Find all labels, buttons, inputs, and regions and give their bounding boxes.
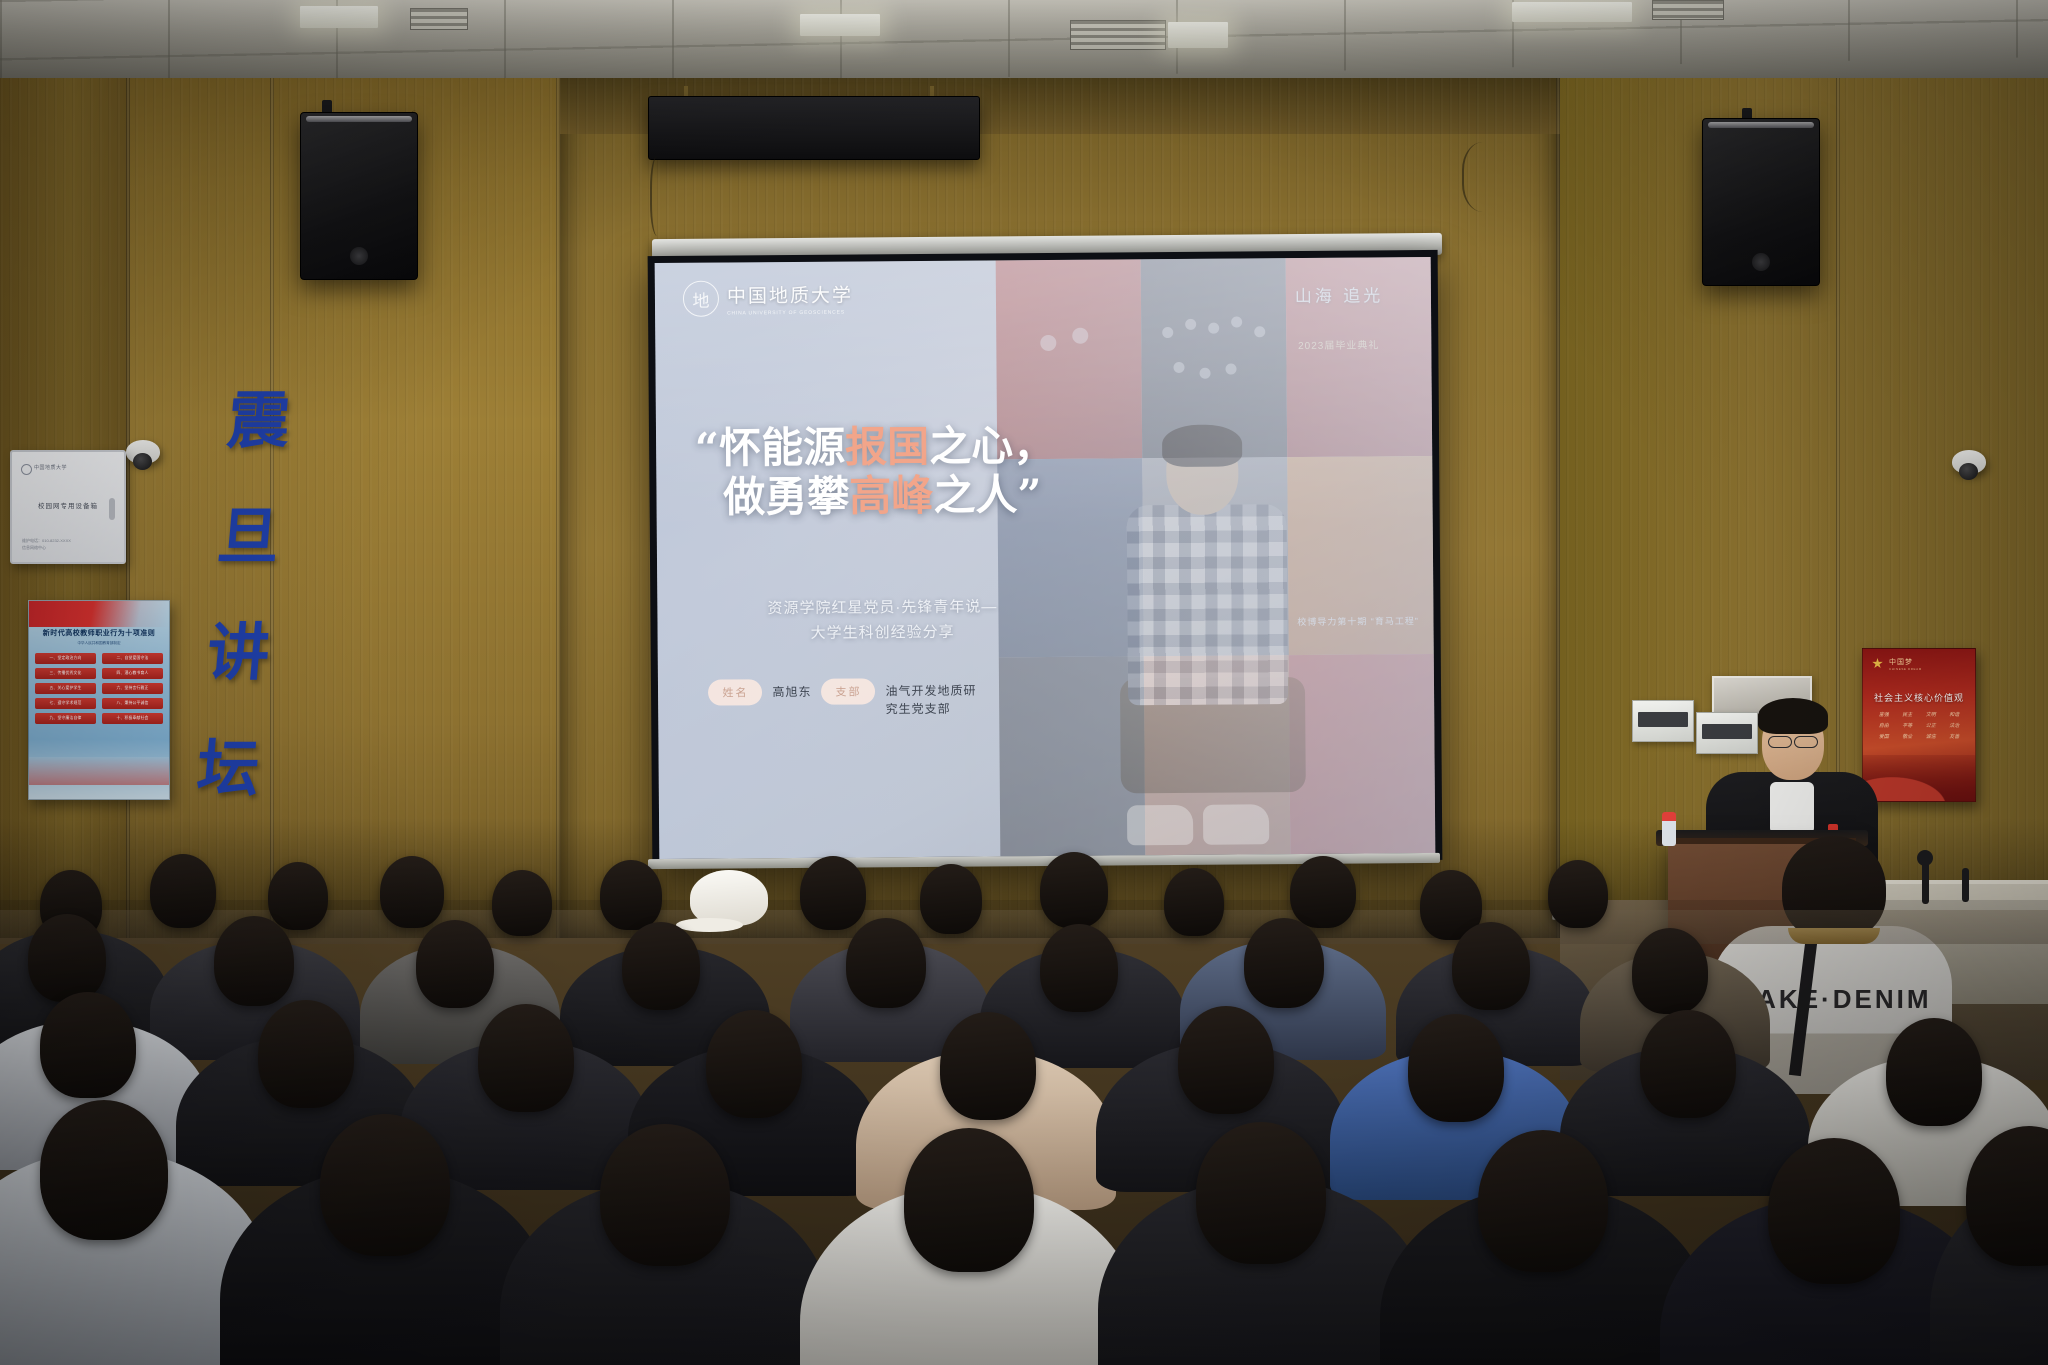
right-wall-camera xyxy=(1952,450,1986,474)
collage-photo-6-caption: 校博导力第十期 “育马工程” xyxy=(1297,614,1419,628)
wall-seam-3 xyxy=(556,78,560,938)
notice-brand: 中国地质大学 xyxy=(34,464,67,471)
center-ceiling-speaker-bar xyxy=(648,96,980,160)
audience-white-cap xyxy=(690,870,768,926)
electrical-box-1 xyxy=(1632,700,1694,742)
notice-footer-2: 信息网络中心 xyxy=(22,545,46,550)
audience-head xyxy=(940,1012,1036,1120)
calligraphy-char-3: 讲 xyxy=(204,602,274,692)
audience-head xyxy=(1478,1130,1608,1272)
china-flag-graphic xyxy=(29,601,169,627)
value-item: 敬业 xyxy=(1897,733,1919,740)
meta-pill-branch-label: 支部 xyxy=(821,679,875,705)
presenter-shirt xyxy=(1770,782,1814,834)
microphone-stand-2[interactable] xyxy=(1962,868,1969,902)
lecture-hall-photo: 震 旦 讲 坛 中国地质大学 校园网专用设备箱 维护电话：010-8232-XX… xyxy=(0,0,2048,1365)
slide-subtitle-line-1: 资源学院红星党员·先锋青年说— xyxy=(704,594,1061,622)
audience-head xyxy=(380,856,444,928)
presenter-glasses xyxy=(1768,736,1792,748)
audience-head xyxy=(622,922,700,1010)
slide-surface: 山海 追光 2023届毕业典礼 校博导力第十期 “育马工程” xyxy=(655,257,1436,859)
right-wall-speaker xyxy=(1702,118,1820,286)
slide-title-line-2: 做勇攀高峰之人” xyxy=(723,470,1161,523)
audience-head xyxy=(1632,928,1708,1014)
rules-item: 二、自觉爱国守法 xyxy=(102,653,163,664)
rules-item: 九、坚守廉洁自律 xyxy=(35,713,96,724)
rules-item: 八、秉持公平诚信 xyxy=(102,698,163,709)
audience-head xyxy=(1040,924,1118,1012)
notice-title: 校园网专用设备箱 xyxy=(12,500,124,510)
audience-head xyxy=(904,1128,1034,1272)
audience-head xyxy=(1452,922,1530,1010)
title-l1-highlight: 报国 xyxy=(845,422,929,472)
title-l1-b: 之心， xyxy=(929,421,1055,471)
audience-head xyxy=(268,862,328,930)
audience-head xyxy=(600,1124,730,1266)
audience-head xyxy=(1164,868,1224,936)
speaker-cable xyxy=(650,156,668,236)
rules-item: 一、坚定政治方向 xyxy=(35,653,96,664)
notice-footer: 维护电话：010-8232-XXXX 信息网络中心 xyxy=(22,538,71,552)
values-poster-values: 富强 民主 文明 和谐 自由 平等 公正 法治 爱国 敬业 诚信 友善 xyxy=(1873,711,1965,740)
audience-head xyxy=(800,856,866,930)
audience-head xyxy=(600,860,662,930)
rules-item: 十、积极奉献社会 xyxy=(102,713,163,724)
hero-shoe-right xyxy=(1203,804,1269,845)
audience-head xyxy=(1640,1010,1736,1118)
hero-plaid-shirt xyxy=(1126,504,1288,705)
water-bottle[interactable] xyxy=(1662,812,1676,846)
slide-speaker-meta: 姓名 高旭东 支部 油气开发地质研 究生党支部 xyxy=(708,677,1081,720)
collage-photo-3-label: 山海 追光 xyxy=(1295,281,1384,307)
audience-head xyxy=(846,918,926,1008)
presenter-hair xyxy=(1758,698,1828,734)
audience-head xyxy=(1040,852,1108,928)
slide-title-line-1: “怀能源报国之心， xyxy=(695,420,1161,473)
meta-pill-name-value: 高旭东 xyxy=(772,679,811,702)
notice-footer-1: 维护电话：010-8232-XXXX xyxy=(22,538,71,543)
audience-head xyxy=(1178,1006,1274,1114)
value-item: 平等 xyxy=(1897,722,1919,729)
audience-head xyxy=(1408,1014,1504,1122)
left-wall-speaker xyxy=(300,112,418,280)
value-item: 和谐 xyxy=(1944,711,1966,718)
title-l2-b: 之人” xyxy=(933,470,1042,520)
audience-head xyxy=(1768,1138,1900,1284)
meta-pill-name-label: 姓名 xyxy=(708,679,762,705)
rules-item: 七、遵守学术规范 xyxy=(35,698,96,709)
university-name-en: CHINA UNIVERSITY OF GEOSCIENCES xyxy=(727,309,853,316)
audience-head xyxy=(1886,1018,1982,1126)
white-notice-box: 中国地质大学 校园网专用设备箱 维护电话：010-8232-XXXX 信息网络中… xyxy=(10,450,126,564)
university-name-cn: 中国地质大学 xyxy=(727,284,853,307)
wall-seam-1 xyxy=(126,78,130,938)
collage-photo-3-sub: 2023届毕业典礼 xyxy=(1298,337,1379,353)
value-item: 诚信 xyxy=(1920,733,1942,740)
ceiling-shading xyxy=(0,0,2048,86)
audience-head xyxy=(1244,918,1324,1008)
calligraphy-char-4: 坛 xyxy=(194,718,264,808)
hero-shoe-left xyxy=(1127,805,1193,846)
audience-head xyxy=(214,916,294,1006)
title-l1-a: “怀能源 xyxy=(695,422,846,472)
hero-hair xyxy=(1162,425,1242,468)
rules-item: 四、潜心教书育人 xyxy=(102,668,163,679)
university-logo-text: 中国地质大学 CHINA UNIVERSITY OF GEOSCIENCES xyxy=(727,280,853,316)
audience-head xyxy=(40,992,136,1098)
left-wall-camera xyxy=(126,440,160,464)
audience-head xyxy=(1196,1122,1326,1264)
value-item: 法治 xyxy=(1944,722,1966,729)
value-item: 文明 xyxy=(1920,711,1942,718)
audience-head xyxy=(40,1100,168,1240)
rules-poster: 新时代高校教师职业行为十项准则 中华人民共和国教育部制定 一、坚定政治方向 二、… xyxy=(28,600,170,800)
rules-poster-note: 中华人民共和国教育部制定 xyxy=(29,641,169,646)
audience-head xyxy=(492,870,552,936)
rules-item: 三、传播优秀文化 xyxy=(35,668,96,679)
audience-head xyxy=(258,1000,354,1108)
university-logo: 地 中国地质大学 CHINA UNIVERSITY OF GEOSCIENCES xyxy=(683,280,853,317)
presenter-glasses-right xyxy=(1794,736,1818,748)
party-emblem-icon xyxy=(1872,658,1883,669)
slide-title: “怀能源报国之心， 做勇攀高峰之人” xyxy=(695,420,1161,523)
rules-poster-footer-band xyxy=(29,757,169,785)
value-item: 公正 xyxy=(1920,722,1942,729)
title-l2-highlight: 高峰 xyxy=(849,471,933,521)
value-item: 民主 xyxy=(1897,711,1919,718)
title-l2-a: 做勇攀 xyxy=(723,472,849,522)
projection-screen[interactable]: 山海 追光 2023届毕业典礼 校博导力第十期 “育马工程” xyxy=(648,250,1443,866)
calligraphy-char-2: 旦 xyxy=(214,486,284,576)
rules-item: 六、坚持言行雅正 xyxy=(102,683,163,694)
wall-seam-4 xyxy=(1556,78,1560,938)
audience-head xyxy=(150,854,216,928)
audience-head xyxy=(706,1010,802,1118)
audience xyxy=(0,900,2048,1365)
audience-head xyxy=(1548,860,1608,928)
ceiling xyxy=(0,0,2048,86)
rules-poster-title: 新时代高校教师职业行为十项准则 xyxy=(29,628,169,638)
audience-head xyxy=(478,1004,574,1112)
rules-poster-items: 一、坚定政治方向 二、自觉爱国守法 三、传播优秀文化 四、潜心教书育人 五、关心… xyxy=(35,653,163,724)
cable-right xyxy=(1462,142,1514,212)
audience-head xyxy=(416,920,494,1008)
values-poster-brand: 中国梦CHINESE DREAM xyxy=(1889,657,1922,671)
audience-head xyxy=(1290,856,1356,928)
value-item: 友善 xyxy=(1944,733,1966,740)
slide-subtitle-line-2: 大学生科创经验分享 xyxy=(704,619,1061,647)
calligraphy-char-1: 震 xyxy=(224,370,294,460)
values-poster-brand-en: CHINESE DREAM xyxy=(1889,667,1922,671)
notice-box-handle[interactable] xyxy=(109,498,115,520)
notice-logo-icon xyxy=(21,464,32,475)
meta-pill-branch-value: 油气开发地质研 究生党支部 xyxy=(885,678,976,718)
audience-head xyxy=(28,914,106,1002)
university-seal-icon: 地 xyxy=(683,281,719,317)
rules-item: 五、关心爱护学生 xyxy=(35,683,96,694)
audience-head xyxy=(320,1114,450,1256)
slide-subtitle: 资源学院红星党员·先锋青年说— 大学生科创经验分享 xyxy=(704,594,1061,648)
audience-head xyxy=(920,864,982,934)
